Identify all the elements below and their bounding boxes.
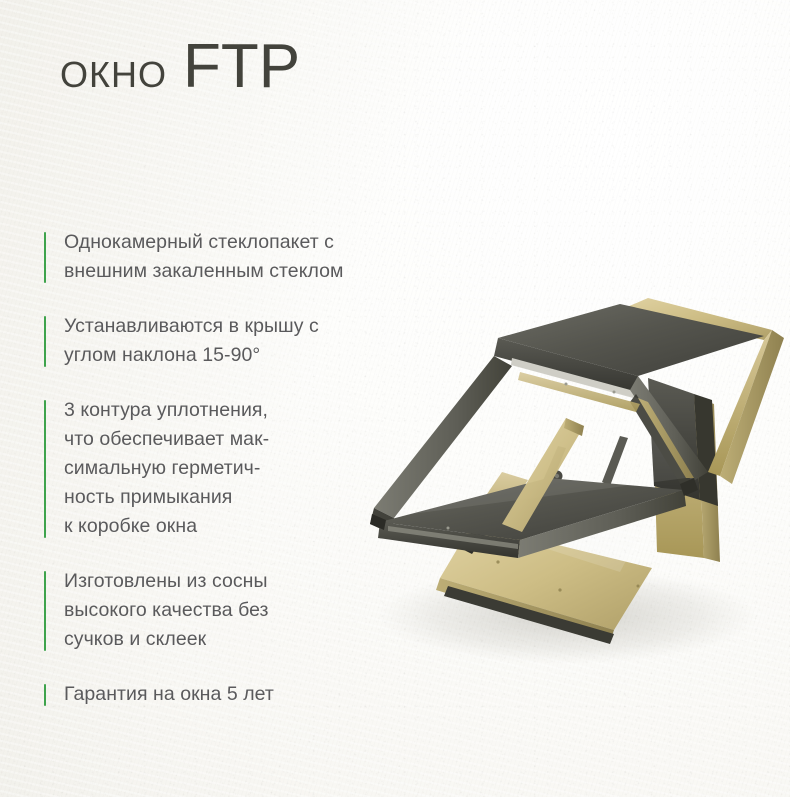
feature-item-seals: 3 контура уплотнения, что обеспечивает м… (44, 396, 374, 541)
feature-item-warranty: Гарантия на окна 5 лет (44, 680, 374, 709)
page-title-cyrillic: Окно (60, 41, 167, 99)
bullet-bar-icon (44, 684, 46, 706)
bullet-bar-icon (44, 571, 46, 651)
bullet-bar-icon (44, 400, 46, 538)
roof-window-illustration (352, 286, 790, 686)
page-title: ОкноFTP (60, 36, 300, 98)
product-image-roof-window (352, 286, 790, 686)
feature-text: 3 контура уплотнения, что обеспечивает м… (64, 396, 374, 541)
feature-item-glazing: Однокамерный стеклопакет с внешним закал… (44, 228, 374, 286)
bullet-bar-icon (44, 316, 46, 367)
feature-list: Однокамерный стеклопакет с внешним закал… (44, 228, 374, 709)
feature-item-roof-pitch: Устанавливаются в крышу с углом наклона … (44, 312, 374, 370)
page-title-latin: FTP (183, 32, 300, 101)
feature-text: Изготовлены из сосны высокого качества б… (64, 567, 374, 654)
feature-text: Устанавливаются в крышу с углом наклона … (64, 312, 374, 370)
feature-text: Гарантия на окна 5 лет (64, 680, 374, 709)
bullet-bar-icon (44, 232, 46, 283)
promo-card: ОкноFTP Однокамерный стеклопакет с внешн… (0, 0, 790, 797)
feature-item-pine-wood: Изготовлены из сосны высокого качества б… (44, 567, 374, 654)
feature-text: Однокамерный стеклопакет с внешним закал… (64, 228, 374, 286)
